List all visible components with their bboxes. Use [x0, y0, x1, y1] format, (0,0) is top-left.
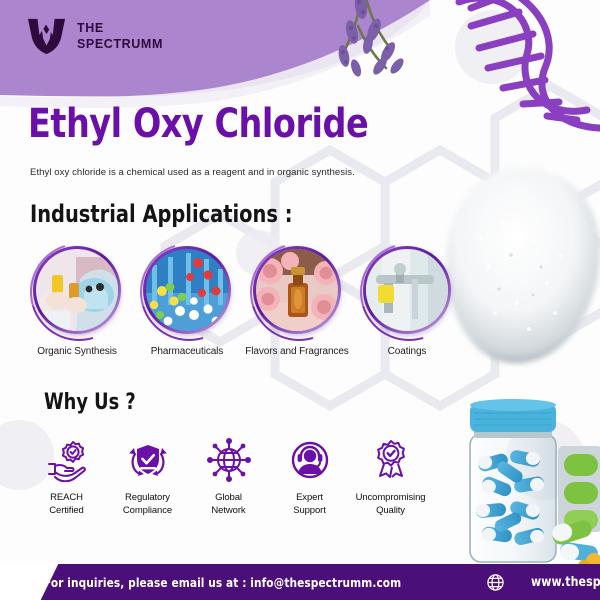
- lab-scientist-vials-photo: [36, 249, 118, 331]
- brand-logo[interactable]: THE SPECTRUMM: [26, 16, 163, 56]
- application-image-ring: [143, 246, 231, 334]
- shield-check-arrows-icon: [126, 438, 170, 482]
- why-us-label: RegulatoryCompliance: [123, 491, 172, 517]
- application-label: Coatings: [388, 346, 427, 357]
- why-us-item-global-network[interactable]: GlobalNetwork: [188, 438, 269, 517]
- application-label: Flavors and Fragrances: [245, 346, 348, 357]
- application-image-ring: [363, 246, 451, 334]
- pills-blue-lab-photo: [146, 249, 228, 331]
- why-us-label: UncompromisingQuality: [356, 491, 426, 517]
- lavender-sprig-icon: [318, 0, 418, 101]
- why-us-heading: Why Us ?: [44, 390, 136, 415]
- brand-name: THE SPECTRUMM: [77, 20, 163, 52]
- award-rosette-check-icon: [369, 438, 413, 482]
- application-label: Organic Synthesis: [37, 346, 116, 357]
- blister-pack: [558, 446, 600, 532]
- page-subtitle: Ethyl oxy chloride is a chemical used as…: [30, 167, 355, 178]
- perfume-roses-photo: [256, 249, 338, 331]
- white-crystal-powder-image: [443, 163, 600, 378]
- why-us-label: GlobalNetwork: [211, 491, 245, 517]
- spray-coating-photo: [366, 249, 448, 331]
- capsule-jar-image: [452, 398, 600, 573]
- why-us-label: ExpertSupport: [293, 491, 326, 517]
- dna-helix-icon: [441, 0, 600, 132]
- application-item-pharmaceuticals[interactable]: Pharmaceuticals: [132, 246, 242, 357]
- footer-inquiry-text[interactable]: For inquiries, please email us at : info…: [44, 575, 401, 590]
- application-image-ring: [253, 246, 341, 334]
- application-item-coatings[interactable]: Coatings: [352, 246, 462, 357]
- application-label: Pharmaceuticals: [151, 346, 223, 357]
- why-us-label: REACHCertified: [49, 491, 83, 517]
- footer-bar: For inquiries, please email us at : info…: [0, 564, 600, 600]
- brand-name-line2: SPECTRUMM: [77, 36, 163, 52]
- applications-list: Organic Synthesis: [22, 246, 462, 357]
- application-item-organic-synthesis[interactable]: Organic Synthesis: [22, 246, 132, 357]
- globe-icon: [486, 573, 505, 592]
- poster-canvas: THE SPECTRUMM: [0, 0, 600, 600]
- why-us-item-reach-certified[interactable]: REACHCertified: [26, 438, 107, 517]
- why-us-item-uncompromising-quality[interactable]: UncompromisingQuality: [350, 438, 431, 517]
- application-image-ring: [33, 246, 121, 334]
- footer-content: For inquiries, please email us at : info…: [0, 564, 600, 600]
- why-us-list: REACHCertified RegulatoryCompliance: [26, 438, 431, 517]
- footer-website-link[interactable]: www.thespectrumm.com: [531, 575, 600, 590]
- globe-network-icon: [207, 438, 251, 482]
- spectrumm-w-mark-icon: [26, 16, 68, 56]
- application-item-flavors-fragrances[interactable]: Flavors and Fragrances: [242, 246, 352, 357]
- brand-name-line1: THE: [77, 20, 163, 36]
- applications-heading: Industrial Applications :: [30, 200, 292, 228]
- why-us-item-regulatory-compliance[interactable]: RegulatoryCompliance: [107, 438, 188, 517]
- headset-support-agent-icon: [288, 438, 332, 482]
- page-title: Ethyl Oxy Chloride: [28, 104, 368, 144]
- hand-certificate-badge-icon: [45, 438, 89, 482]
- why-us-item-expert-support[interactable]: ExpertSupport: [269, 438, 350, 517]
